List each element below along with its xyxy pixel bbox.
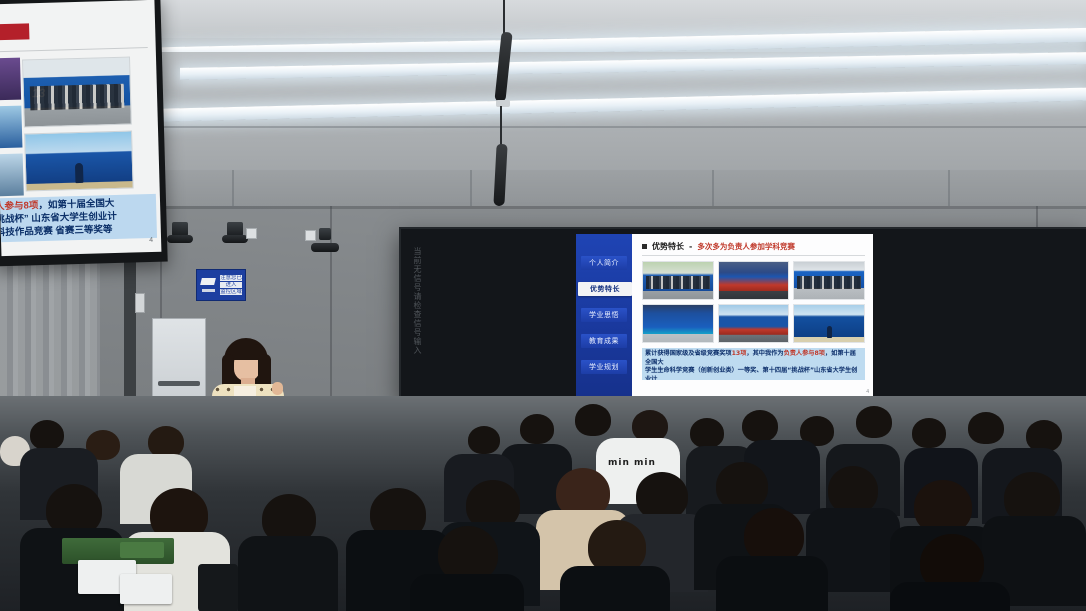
slide-photo-2 [793,261,865,300]
slide-title-separator: - [689,242,692,251]
slide-photo-1 [718,261,790,300]
chair-back [198,564,238,611]
audience-body [410,574,524,611]
mic-cable [500,106,502,148]
wall-plate [305,230,316,241]
audience-head [575,404,611,436]
audience-head [30,420,64,450]
main-display-panel[interactable]: 当前无信号请检查信号输入 个人简介 优势特长 学业思悟 教育成果 学业规划 优势… [399,227,1086,400]
left-slide-photo-2 [24,130,134,191]
left-slide-thumbnails [0,58,24,203]
presentation-slide: 个人简介 优势特长 学业思悟 教育成果 学业规划 优势特长 - 多次多为负责人参… [576,234,873,397]
slide-photo-4 [718,304,790,343]
surveillance-warning-sign: 注意您已 进入 监控区域 [196,269,246,301]
slide-photo-0 [642,261,714,300]
slide-nav-item-1[interactable]: 优势特长 [578,282,632,296]
left-slide-page-number: 4 [149,237,153,244]
projector-mount [319,228,331,240]
slide-title-divider [642,255,865,256]
hoodie-brand-text: min min [608,458,656,468]
wall-speaker [172,222,188,236]
wall-speaker [227,222,243,236]
slide-photo-3 [642,304,714,343]
left-slide-photo-1: 13 [22,57,132,128]
audience-head [468,426,500,454]
audience-head [912,418,946,448]
slide-title-sub: 多次多为负责人参加学科竞赛 [697,241,795,252]
wall-sensor-box [135,293,145,313]
slide-caption: 累计获得国家级及省级竞赛奖项13项，其中我作为负责人参与8项，如第十届全国大 学… [642,348,865,380]
wall-speaker-base [167,235,193,243]
left-projection-screen: 13 人参与8项，如第十届全国大 挑战杯” 山东省大学生创业计 科技作品竞赛 省… [0,0,168,266]
slide-title: 优势特长 - 多次多为负责人参加学科竞赛 [642,241,865,252]
slide-title-main: 优势特长 [652,241,684,252]
audience-head [856,406,892,438]
sign-line-3: 监控区域 [220,289,242,295]
audience-head [828,466,878,514]
student-desk [120,542,164,558]
slide-title-bullet-icon [642,244,647,249]
mic-mount [496,100,510,107]
caption-part-0: 累计获得国家级及省级竞赛奖项 [645,350,732,357]
desk-paper [120,574,172,604]
audience-body [890,582,1010,611]
wall-speaker-base [222,235,248,243]
audience-body [716,556,828,611]
left-caption-hl: 人参与8项 [0,200,39,212]
wall-speaker-base [311,243,339,252]
audience-body [238,536,338,611]
left-caption-1: ，如第十届全国大 [38,198,114,211]
slide-content: 优势特长 - 多次多为负责人参加学科竞赛 累计获得国家级及省级竞赛奖项13项，其… [632,234,873,397]
slide-nav-item-2[interactable]: 学业思悟 [581,308,627,322]
left-slide-caption: 人参与8项，如第十届全国大 挑战杯” 山东省大学生创业计 科技作品竞赛 省赛三等… [0,194,157,243]
slide-nav-item-3[interactable]: 教育成果 [581,334,627,348]
audience-head [968,412,1004,444]
sign-line-2: 进入 [220,282,242,288]
audience-head [520,414,554,444]
audience-head [636,472,688,520]
display-watermark: 当前无信号请检查信号输入 [410,247,423,377]
audience-head [742,410,778,442]
cctv-camera-icon [200,274,220,296]
audience-body [560,566,670,611]
presenter-hand [272,382,283,395]
slide-photo-grid [642,261,865,343]
audience-head [716,462,768,510]
slide-nav-item-4[interactable]: 学业规划 [581,360,627,374]
mic-cable [503,0,505,34]
wall-plate [246,228,257,239]
slide-caption-line-2: 学生生命科学竞赛（创新创业类）一等奖、第十四届“挑战杯”山东省大学生创业计 [645,367,862,380]
slide-page-number: 4 [866,389,869,395]
audience-head [690,418,724,448]
slide-nav-item-0[interactable]: 个人简介 [581,256,627,270]
caption-part-2: ，其中我作为 [746,350,783,357]
left-slide-title-block [0,23,29,40]
caption-part-3: 负责人参与8项 [784,350,825,357]
slide-photo-5 [793,304,865,343]
caption-part-1: 13项 [732,350,747,357]
slide-navigation-sidebar: 个人简介 优势特长 学业思悟 教育成果 学业规划 [576,234,632,397]
slide-caption-line-1: 累计获得国家级及省级竞赛奖项13项，其中我作为负责人参与8项，如第十届全国大 [645,350,862,367]
lecture-hall-scene: 注意您已 进入 监控区域 13 人参与8项，如第十届全国 [0,0,1086,611]
audience-area: min min [0,396,1086,611]
sign-line-1: 注意您已 [220,275,242,281]
